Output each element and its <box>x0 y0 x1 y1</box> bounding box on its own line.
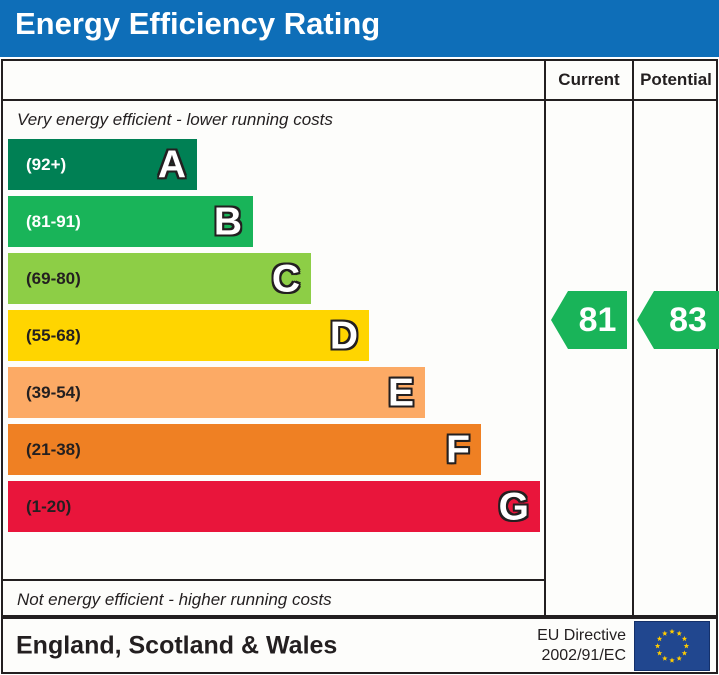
current-rating-value: 81 <box>568 291 627 349</box>
band-letter-e: E <box>388 373 414 412</box>
caption-efficient: Very energy efficient - lower running co… <box>3 101 544 139</box>
caption-not-efficient: Not energy efficient - higher running co… <box>3 579 544 617</box>
band-range-e: (39-54) <box>26 383 81 403</box>
column-header-potential: Potential <box>632 61 718 99</box>
column-divider-potential <box>632 101 634 615</box>
column-header-current: Current <box>544 61 632 99</box>
band-bar-c: (69-80) C <box>8 253 311 304</box>
eu-flag-icon <box>634 621 710 671</box>
band-range-g: (1-20) <box>26 497 71 517</box>
page-title: Energy Efficiency Rating <box>15 6 380 42</box>
band-bar-f: (21-38) F <box>8 424 481 475</box>
band-letter-g: G <box>499 487 529 526</box>
column-header-row: Current Potential <box>3 61 716 101</box>
band-bar-a: (92+) A <box>8 139 197 190</box>
band-letter-c: C <box>272 259 300 298</box>
band-range-d: (55-68) <box>26 326 81 346</box>
chart-frame: Current Potential Very energy efficient … <box>1 59 718 617</box>
potential-rating-arrow: 83 <box>637 291 719 349</box>
footer-directive-line2: 2002/91/EC <box>537 646 626 666</box>
current-rating-arrow: 81 <box>551 291 627 349</box>
band-bar-b: (81-91) B <box>8 196 253 247</box>
band-range-b: (81-91) <box>26 212 81 232</box>
band-bar-d: (55-68) D <box>8 310 369 361</box>
band-range-f: (21-38) <box>26 440 81 460</box>
chart-title-bar: Energy Efficiency Rating <box>0 0 719 57</box>
band-range-a: (92+) <box>26 155 66 175</box>
band-letter-b: B <box>214 202 242 241</box>
column-divider-current <box>544 101 546 615</box>
band-letter-d: D <box>330 316 358 355</box>
band-bar-e: (39-54) E <box>8 367 425 418</box>
potential-rating-value: 83 <box>654 291 719 349</box>
band-letter-a: A <box>158 145 186 184</box>
band-bars: (92+) A (81-91) B (69-80) C (55-68) D (3… <box>3 139 544 579</box>
energy-efficiency-rating-chart: Energy Efficiency Rating Current Potenti… <box>0 0 719 675</box>
band-letter-f: F <box>446 430 470 469</box>
band-bar-g: (1-20) G <box>8 481 540 532</box>
footer-region-label: England, Scotland & Wales <box>16 631 337 660</box>
chart-footer: England, Scotland & Wales EU Directive 2… <box>1 617 718 674</box>
footer-directive-line1: EU Directive <box>537 626 626 646</box>
band-range-c: (69-80) <box>26 269 81 289</box>
footer-directive: EU Directive 2002/91/EC <box>537 626 626 666</box>
